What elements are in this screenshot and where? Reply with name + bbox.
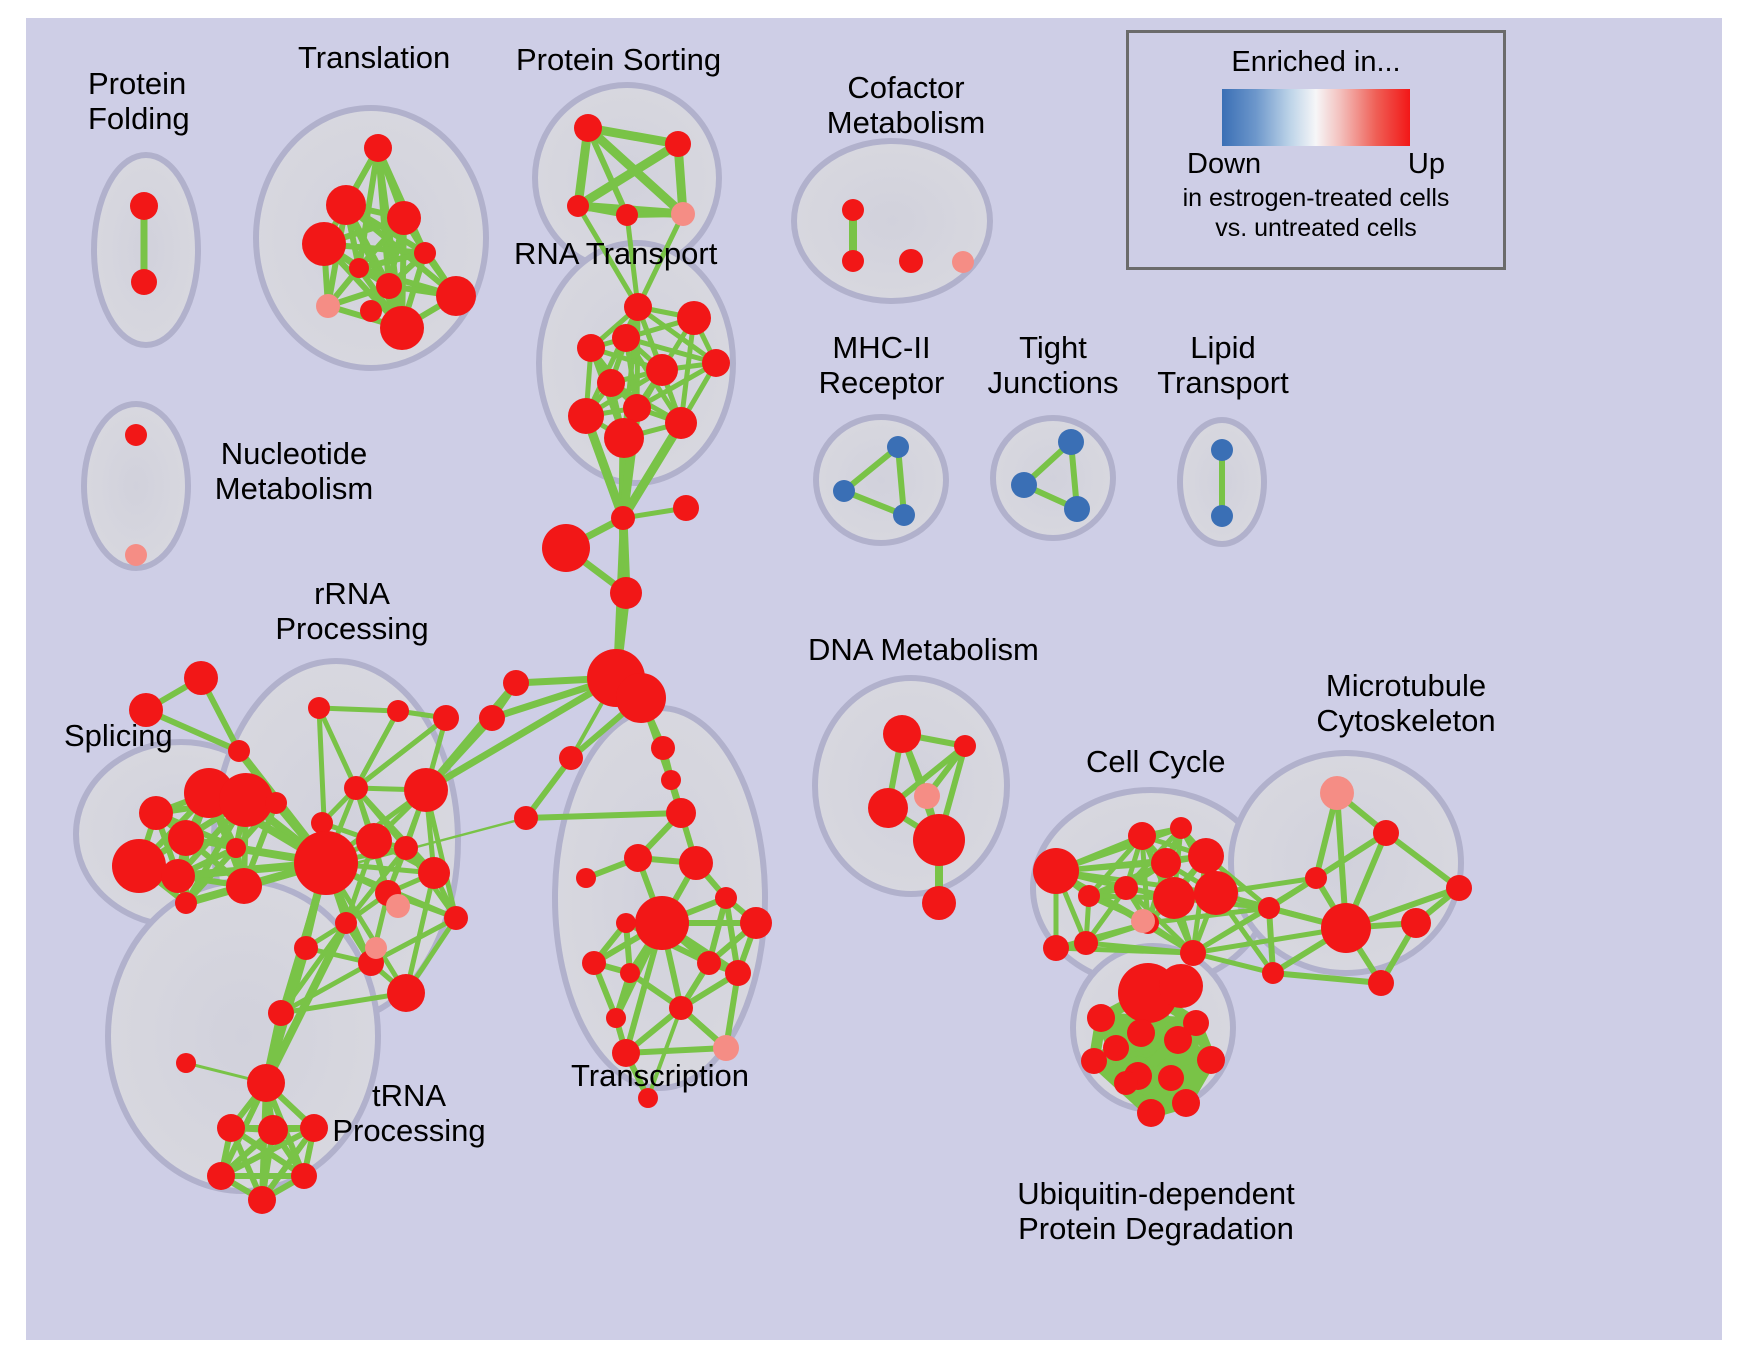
cluster-label-protein-sorting: Protein Sorting xyxy=(516,42,721,77)
figure-canvas: Protein Folding Translation Protein Sort… xyxy=(0,0,1750,1360)
cluster-label-trna-processing: tRNA Processing xyxy=(314,1078,504,1148)
cluster-label-ubiquitin-protein-degradation: Ubiquitin-dependent Protein Degradation xyxy=(966,1176,1346,1246)
legend-title: Enriched in... xyxy=(1231,46,1400,79)
cluster-label-transcription: Transcription xyxy=(571,1058,749,1093)
cluster-label-lipid-transport: Lipid Transport xyxy=(1148,330,1298,400)
colorbar-gradient xyxy=(1222,89,1410,146)
cluster-label-protein-folding: Protein Folding xyxy=(88,66,190,136)
legend-box: Enriched in... Down Up in estrogen-treat… xyxy=(1126,30,1506,270)
cluster-label-cofactor-metabolism: Cofactor Metabolism xyxy=(816,70,996,140)
colorbar-endpoints: Down Up xyxy=(1187,148,1445,181)
cluster-label-tight-junctions: Tight Junctions xyxy=(978,330,1128,400)
cluster-label-splicing: Splicing xyxy=(64,718,173,753)
cluster-hull-tight-junctions xyxy=(993,418,1113,538)
cluster-label-microtubule-cytoskeleton: Microtubule Cytoskeleton xyxy=(1288,668,1524,738)
cluster-label-mhc-ii-receptor: MHC-II Receptor xyxy=(804,330,959,400)
colorbar-low-label: Down xyxy=(1187,148,1261,181)
cluster-label-cell-cycle: Cell Cycle xyxy=(1086,744,1226,779)
cluster-label-translation: Translation xyxy=(298,40,450,75)
colorbar-high-label: Up xyxy=(1408,148,1445,181)
cluster-hull-cofactor xyxy=(794,141,990,301)
cluster-label-nucleotide-metabolism: Nucleotide Metabolism xyxy=(204,436,384,506)
legend-subtitle-line1: in estrogen-treated cells xyxy=(1183,183,1450,213)
cluster-label-rna-transport: RNA Transport xyxy=(514,236,717,271)
legend-subtitle-line2: vs. untreated cells xyxy=(1215,213,1417,243)
cluster-label-rrna-processing: rRNA Processing xyxy=(262,576,442,646)
cluster-label-dna-metabolism: DNA Metabolism xyxy=(808,632,1039,667)
enrichment-map: Protein Folding Translation Protein Sort… xyxy=(26,18,1722,1340)
cluster-hull-mhc-ii xyxy=(816,417,946,543)
